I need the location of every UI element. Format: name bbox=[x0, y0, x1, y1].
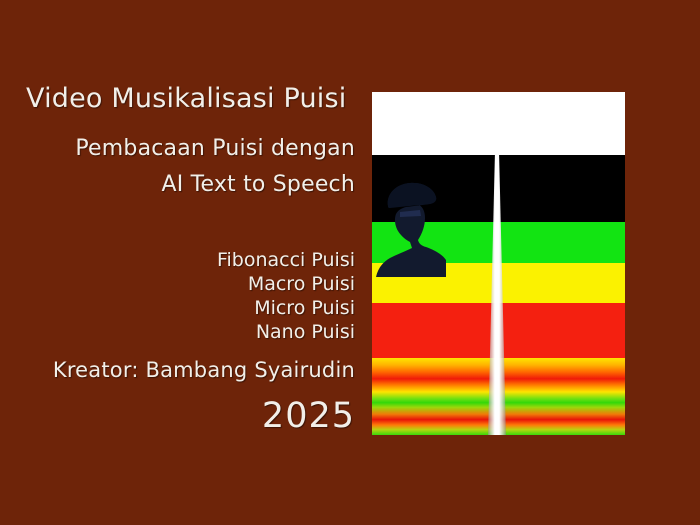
poem-type-list: Fibonacci Puisi Macro Puisi Micro Puisi … bbox=[15, 248, 355, 344]
year-label: 2025 bbox=[262, 396, 355, 436]
cover-artwork-panel bbox=[372, 92, 625, 435]
video-title-slide: Video Musikalisasi Puisi Pembacaan Puisi… bbox=[0, 0, 700, 525]
list-item: Micro Puisi bbox=[15, 296, 355, 320]
subtitle-line-1: Pembacaan Puisi dengan bbox=[75, 136, 355, 162]
creator-credit: Kreator: Bambang Syairudin bbox=[53, 357, 355, 383]
text-column: Video Musikalisasi Puisi Pembacaan Puisi… bbox=[0, 0, 360, 525]
list-item: Nano Puisi bbox=[15, 320, 355, 344]
page-title: Video Musikalisasi Puisi bbox=[26, 84, 346, 114]
subtitle-line-2: AI Text to Speech bbox=[161, 172, 355, 198]
list-item: Macro Puisi bbox=[15, 272, 355, 296]
list-item: Fibonacci Puisi bbox=[15, 248, 355, 272]
creator-silhouette bbox=[376, 172, 446, 277]
